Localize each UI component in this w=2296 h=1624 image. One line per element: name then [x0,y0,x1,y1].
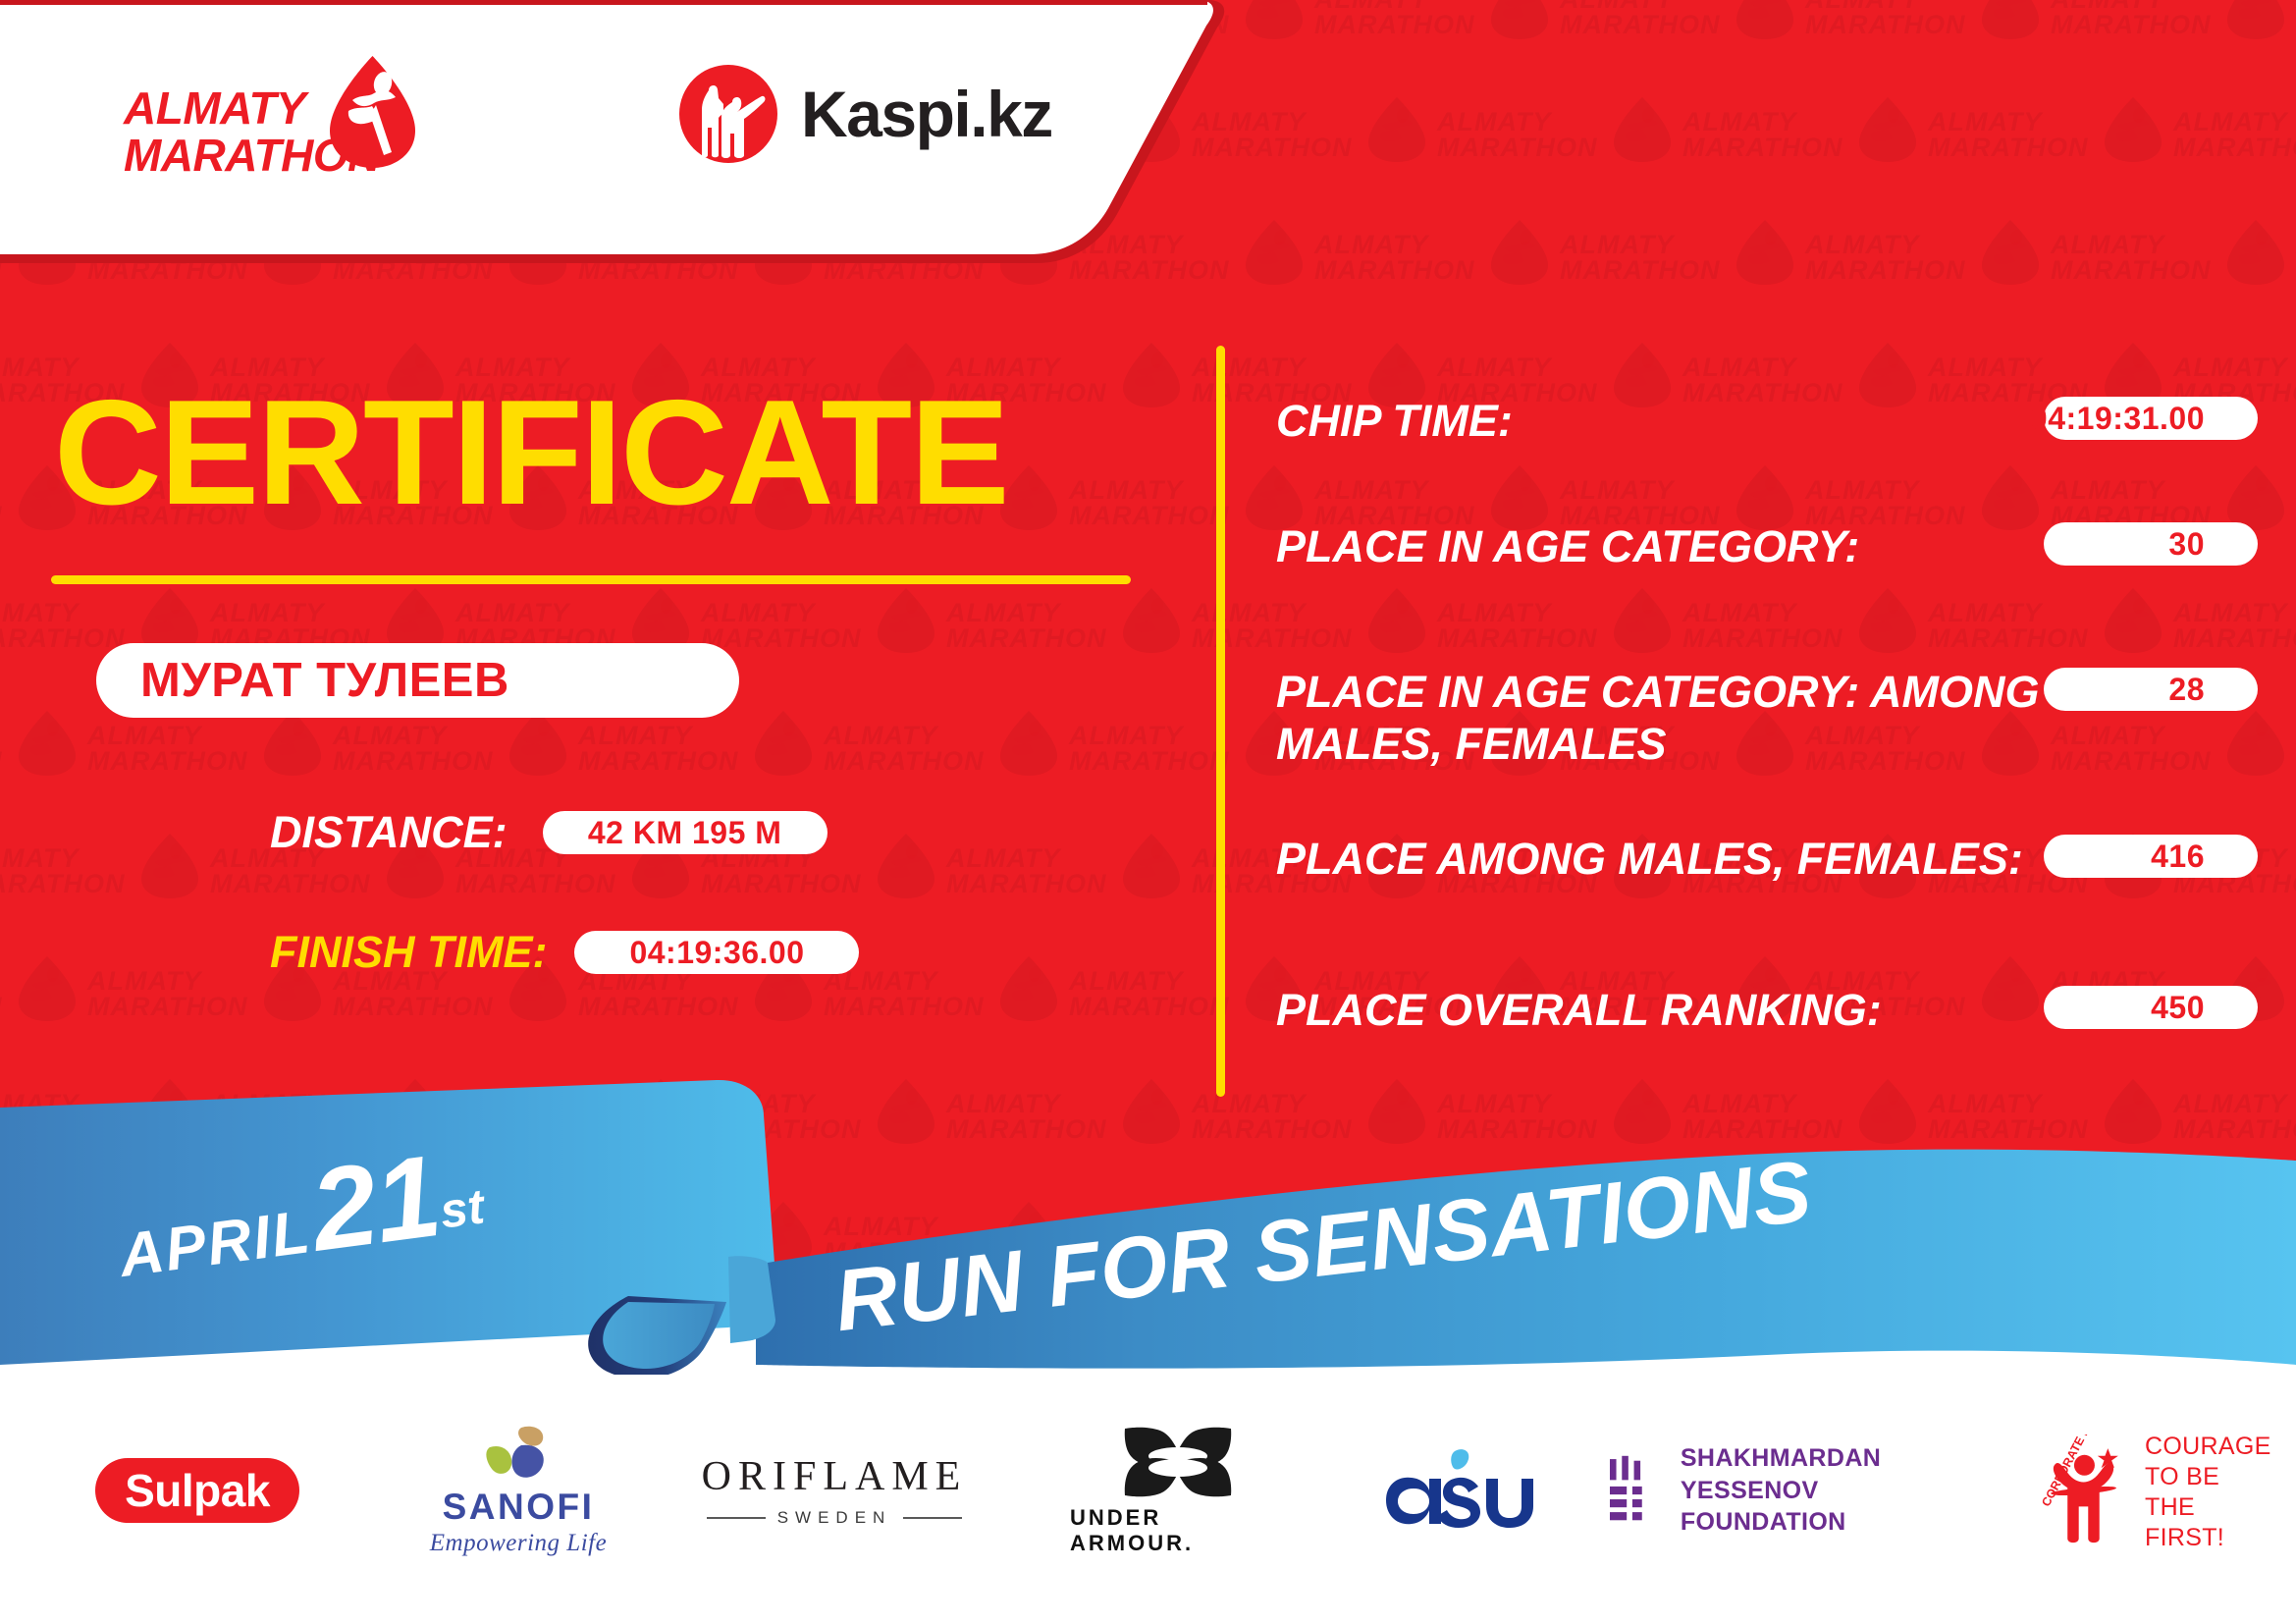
oriflame-sub-row: SWEDEN [707,1508,963,1528]
sanofi-wordmark: SANOFI [443,1487,595,1528]
place-gender-label: PLACE AMONG MALES, FEMALES: [1276,834,2023,884]
sponsor-logos: Sulpak SANOFI Empowering Life ORIFLAME S… [0,1375,2296,1624]
result-row-overall-ranking: PLACE OVERALL RANKING: 450 [1276,982,2258,1036]
sponsor-oriflame[interactable]: ORIFLAME SWEDEN [687,1432,982,1549]
finish-time-label: FINISH TIME: [270,927,547,978]
distance-label: DISTANCE: [270,807,507,858]
overall-ranking-value: 450 [2151,990,2258,1026]
courage-line3: THE FIRST! [2145,1492,2275,1554]
result-value-pill: 28 [2044,668,2258,711]
finish-time-value-pill: 04:19:36.00 [574,931,859,974]
result-value-pill: 30 [2044,522,2258,566]
distance-value: 42 KM 195 M [588,815,782,851]
title-underline [51,575,1131,584]
finish-time-value: 04:19:36.00 [629,935,804,971]
watermark-text: ALMATYMARATHON [0,723,28,774]
distance-row: DISTANCE: 42 KM 195 M [270,807,828,858]
watermark-text: ALMATYMARATHON [0,968,28,1019]
chip-time-label: CHIP TIME: [1276,396,1513,446]
sponsor-sanofi[interactable]: SANOFI Empowering Life [410,1418,626,1565]
shakhmardan-yessenov-foundation-logo [1610,1448,1655,1533]
result-row-chip-time: CHIP TIME: 04:19:31.00 [1276,393,2258,447]
shakhmardan-line2: FOUNDATION [1681,1506,1963,1539]
sulpak-logo: Sulpak [95,1458,299,1523]
runner-drop-icon [327,54,418,170]
oriflame-sub: SWEDEN [777,1508,892,1528]
watermark-tile: ALMATYMARATHON [2292,707,2296,830]
courage-line1: COURAGE [2145,1432,2275,1462]
watermark-text: ALMATYMARATHON [578,723,765,774]
result-label: CHIP TIME: [1276,393,1787,447]
result-row-place-age-category-gender: PLACE IN AGE CATEGORY: AMONG MALES, FEMA… [1276,664,2258,770]
athlete-name-value: МУРАТ ТУЛЕЕВ [140,653,509,708]
courage-to-be-the-first-logo: CORPORATE FUND [2030,1435,2135,1550]
sponsor-asu[interactable] [1366,1432,1563,1549]
result-label: PLACE AMONG MALES, FEMALES: [1276,831,2023,885]
asu-logo [1376,1445,1553,1536]
sponsor-under-armour[interactable]: UNDER ARMOUR. [1070,1422,1286,1559]
watermark-text: ALMATYMARATHON [1928,600,2114,651]
kaspi-family-icon [677,63,779,165]
distance-value-pill: 42 KM 195 M [543,811,828,854]
watermark-text: ALMATYMARATHON [0,845,151,896]
sanofi-logo [486,1426,551,1483]
sulpak-wordmark: Sulpak [125,1464,270,1517]
overall-ranking-label: PLACE OVERALL RANKING: [1276,985,1882,1035]
watermark-text: ALMATYMARATHON [701,600,887,651]
place-age-category-gender-label: PLACE IN AGE CATEGORY: AMONG MALES, FEMA… [1276,667,2040,769]
watermark-tile: ALMATYMARATHON [2292,952,2296,1075]
watermark-text: ALMATYMARATHON [824,723,1010,774]
result-value-pill: 450 [2044,986,2258,1029]
divider-right [903,1517,962,1519]
watermark-tile: ALMATYMARATHON [0,707,83,830]
watermark-text: ALMATYMARATHON [946,600,1133,651]
athlete-name-field[interactable]: МУРАТ ТУЛЕЕВ [96,643,739,718]
result-label: PLACE IN AGE CATEGORY: [1276,518,1859,572]
watermark-tile: ALMATYMARATHON [0,830,206,952]
shakhmardan-wordmark: SHAKHMARDAN YESSENOV FOUNDATION [1681,1442,1963,1539]
place-age-category-value: 30 [2168,526,2258,563]
finish-time-row: FINISH TIME: 04:19:36.00 [270,927,859,978]
result-value-pill: 04:19:31.00 [2044,397,2258,440]
watermark-text: ALMATYMARATHON [1437,600,1624,651]
certificate-page: ALMATYMARATHONALMATYMARATHONALMATYMARATH… [0,0,2296,1624]
watermark-text: ALMATYMARATHON [0,477,28,528]
divider-left [707,1517,766,1519]
watermark-tile: ALMATYMARATHON [1065,707,1310,830]
watermark-text: ALMATYMARATHON [1069,723,1255,774]
result-row-place-age-category: PLACE IN AGE CATEGORY: 30 [1276,518,2258,572]
header: ALMATY MARATHON Kaspi.kz [0,0,2296,295]
watermark-text: ALMATYMARATHON [87,723,274,774]
watermark-tile: ALMATYMARATHON [1065,952,1310,1075]
place-age-category-label: PLACE IN AGE CATEGORY: [1276,521,1859,571]
chip-time-value: 04:19:31.00 [2030,401,2258,437]
vertical-divider [1216,346,1225,1097]
watermark-text: ALMATYMARATHON [87,968,274,1019]
sanofi-tagline: Empowering Life [430,1530,607,1557]
sponsor-courage-to-be-the-first[interactable]: CORPORATE FUND COURAGE TO BE THE FIRST! [2030,1424,2275,1561]
place-age-category-gender-value: 28 [2168,672,2258,708]
event-day-suffix: st [437,1178,487,1238]
sponsor-sulpak[interactable]: Sulpak [94,1432,300,1549]
courage-line2: TO BE [2145,1462,2275,1492]
watermark-text: ALMATYMARATHON [1069,968,1255,1019]
under-armour-logo [1119,1425,1237,1499]
almaty-marathon-logo[interactable]: ALMATY MARATHON [124,54,438,187]
page-title: CERTIFICATE [54,378,1144,527]
watermark-tile: ALMATYMARATHON [942,830,1188,952]
result-value-pill: 416 [2044,835,2258,878]
watermark-text: ALMATYMARATHON [333,723,519,774]
oriflame-wordmark: ORIFLAME [702,1453,968,1500]
result-row-place-gender: PLACE AMONG MALES, FEMALES: 416 [1276,831,2258,885]
result-label: PLACE OVERALL RANKING: [1276,982,1882,1036]
watermark-tile: ALMATYMARATHON [0,952,83,1075]
kaspi-logo[interactable]: Kaspi.kz [677,65,1052,163]
header-logos: ALMATY MARATHON Kaspi.kz [0,0,1207,280]
kaspi-wordmark: Kaspi.kz [801,77,1052,151]
sponsor-shakhmardan-yessenov-foundation[interactable]: SHAKHMARDAN YESSENOV FOUNDATION [1610,1432,1963,1549]
event-day: 21 [304,1131,447,1276]
event-month: APRIL [116,1198,315,1290]
courage-wordmark: COURAGE TO BE THE FIRST! [2145,1432,2275,1554]
watermark-tile: ALMATYMARATHON [942,584,1188,707]
place-gender-value: 416 [2151,839,2258,875]
watermark-text: ALMATYMARATHON [2173,600,2296,651]
shakhmardan-line1: SHAKHMARDAN YESSENOV [1681,1442,1963,1506]
watermark-tile: ALMATYMARATHON [820,707,1065,830]
watermark-tile: ALMATYMARATHON [2292,461,2296,584]
watermark-text: ALMATYMARATHON [946,845,1133,896]
watermark-text: ALMATYMARATHON [1682,600,1869,651]
under-armour-wordmark: UNDER ARMOUR. [1070,1505,1286,1556]
sponsor-footer: Sulpak SANOFI Empowering Life ORIFLAME S… [0,1375,2296,1624]
result-label: PLACE IN AGE CATEGORY: AMONG MALES, FEMA… [1276,664,2044,770]
